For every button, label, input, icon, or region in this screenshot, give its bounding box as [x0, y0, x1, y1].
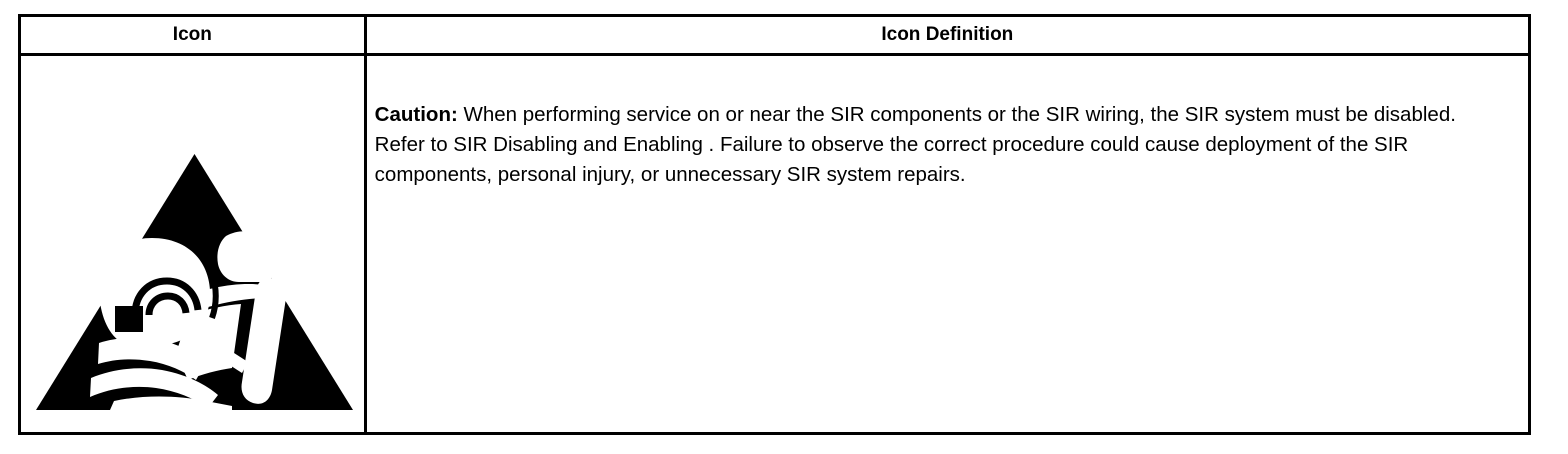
steering-wheel-hub: [115, 306, 143, 332]
table-header-row: Icon Icon Definition: [20, 16, 1530, 55]
column-header-icon: Icon: [20, 16, 366, 55]
occupant-head: [217, 231, 276, 282]
icon-cell-inner: [21, 56, 364, 430]
definition-cell: Caution: When performing service on or n…: [365, 55, 1529, 434]
sir-airbag-caution-icon: [36, 154, 353, 414]
table-row: Caution: When performing service on or n…: [20, 55, 1530, 434]
page-root: Icon Icon Definition: [0, 0, 1568, 454]
caution-body-text: When performing service on or near the S…: [375, 103, 1456, 186]
column-header-icon-definition: Icon Definition: [365, 16, 1529, 55]
icon-definition-table: Icon Icon Definition: [18, 14, 1531, 435]
caution-label: Caution:: [375, 103, 458, 126]
caution-paragraph: Caution: When performing service on or n…: [375, 100, 1506, 190]
definition-cell-inner: Caution: When performing service on or n…: [367, 56, 1528, 190]
icon-cell: [20, 55, 366, 434]
